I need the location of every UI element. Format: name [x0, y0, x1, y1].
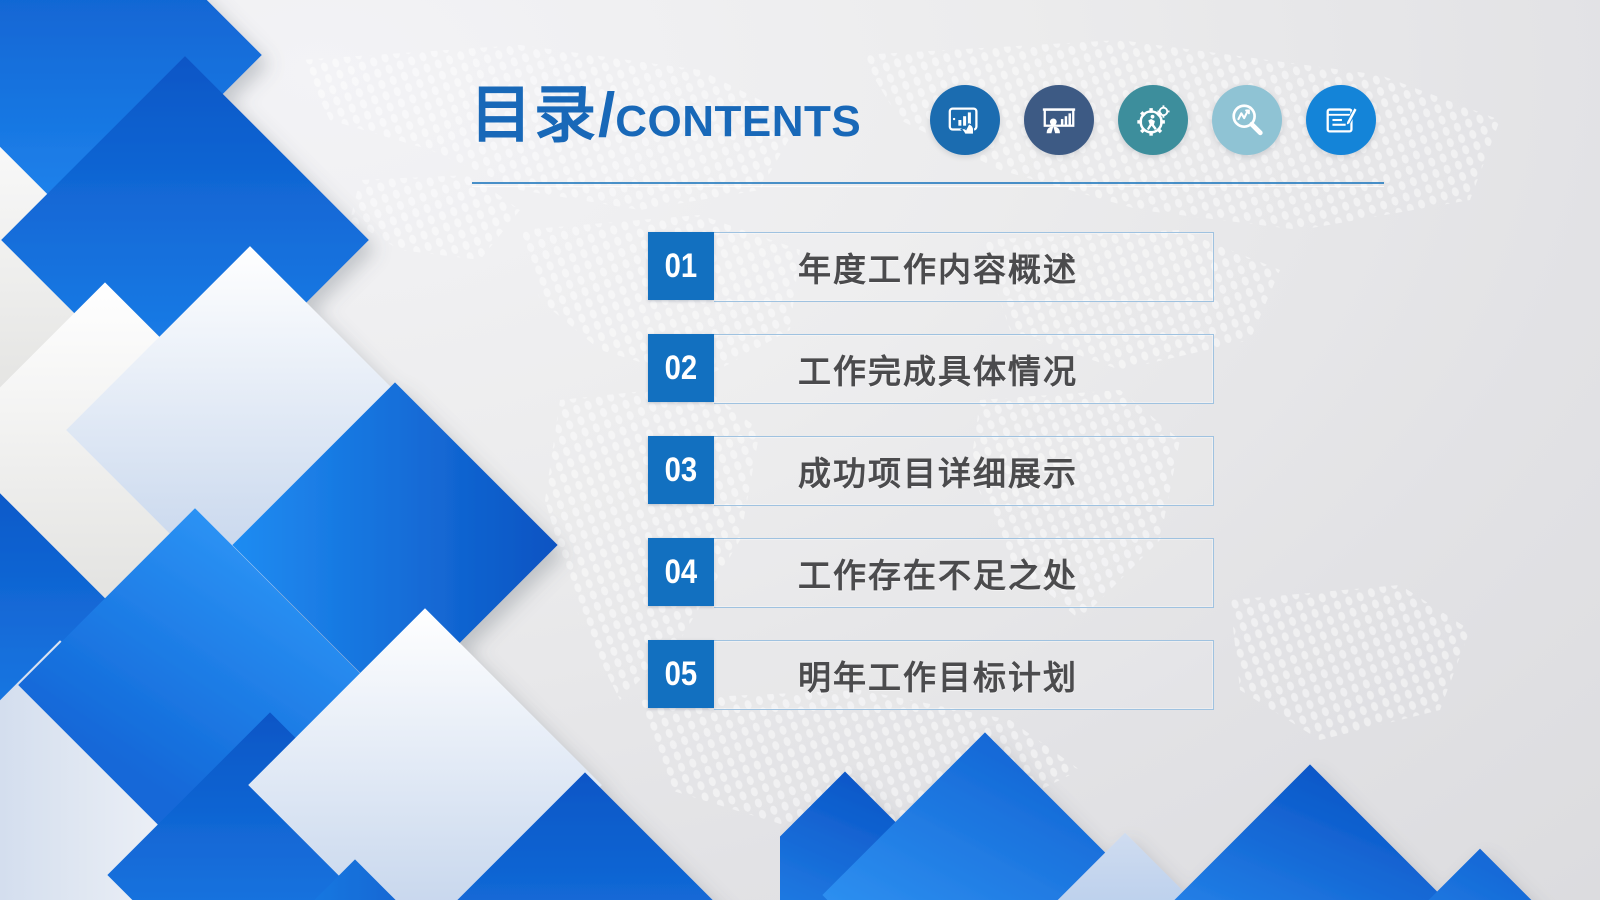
list-item[interactable]: 05 明年工作目标计划	[648, 640, 1214, 708]
item-bar[interactable]: 明年工作目标计划	[714, 640, 1214, 710]
item-number-badge: 03	[648, 436, 714, 504]
list-item[interactable]: 04 工作存在不足之处	[648, 538, 1214, 606]
page-title-cn: 目录	[470, 78, 598, 151]
item-label: 年度工作内容概述	[798, 243, 1078, 291]
slide-header: 目录/CONTENTS	[470, 88, 1390, 188]
tablet-chart-icon[interactable]	[930, 85, 1000, 155]
header-divider	[472, 182, 1384, 184]
document-pen-icon[interactable]	[1306, 85, 1376, 155]
page-title: 目录/CONTENTS	[470, 84, 861, 147]
page-title-en: CONTENTS	[615, 97, 861, 146]
item-bar[interactable]: 工作存在不足之处	[714, 538, 1214, 608]
item-number-badge: 01	[648, 232, 714, 300]
item-bar[interactable]: 成功项目详细展示	[714, 436, 1214, 506]
slide-canvas: 目录/CONTENTS	[0, 0, 1600, 900]
item-bar[interactable]: 年度工作内容概述	[714, 232, 1214, 302]
item-label: 成功项目详细展示	[798, 447, 1078, 495]
header-icon-row	[930, 85, 1376, 155]
gear-runner-icon[interactable]	[1118, 85, 1188, 155]
item-number-badge: 05	[648, 640, 714, 708]
item-number-badge: 04	[648, 538, 714, 606]
header-divider-highlight	[472, 186, 1384, 187]
list-item[interactable]: 01 年度工作内容概述	[648, 232, 1214, 300]
contents-list: 01 年度工作内容概述 02 工作完成具体情况 03 成功项目详细展示	[648, 232, 1214, 708]
item-label: 工作完成具体情况	[798, 345, 1078, 393]
presentation-board-icon[interactable]	[1024, 85, 1094, 155]
list-item[interactable]: 02 工作完成具体情况	[648, 334, 1214, 402]
list-item[interactable]: 03 成功项目详细展示	[648, 436, 1214, 504]
item-bar[interactable]: 工作完成具体情况	[714, 334, 1214, 404]
item-label: 工作存在不足之处	[798, 549, 1078, 597]
page-title-separator: /	[598, 81, 615, 150]
item-label: 明年工作目标计划	[798, 651, 1078, 699]
item-number-badge: 02	[648, 334, 714, 402]
magnifier-chart-icon[interactable]	[1212, 85, 1282, 155]
